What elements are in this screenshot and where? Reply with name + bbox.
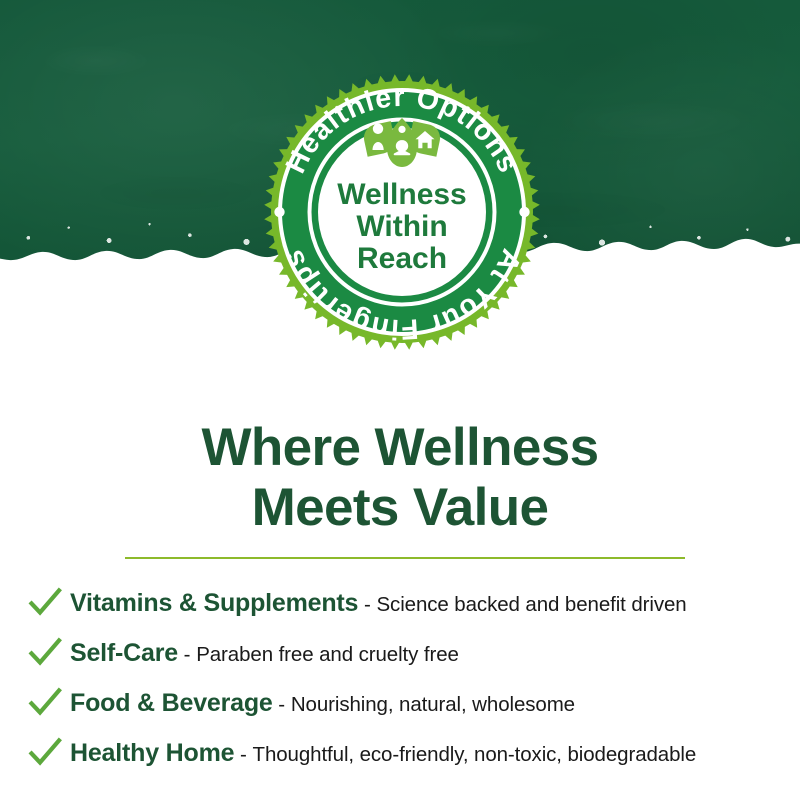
list-item: Vitamins & Supplements - Science backed …	[0, 578, 800, 628]
list-item-title: Self-Care	[70, 639, 178, 667]
list-item-dash: -	[358, 593, 376, 616]
wellness-badge-seal: Healthier Options At Your Fingertips	[264, 74, 540, 350]
list-item-description: Thoughtful, eco-friendly, non-toxic, bio…	[253, 743, 697, 766]
list-item-dash: -	[178, 643, 196, 666]
list-item-dash: -	[273, 693, 291, 716]
page-title-line-1: Where Wellness	[0, 418, 800, 478]
list-item-title: Healthy Home	[70, 739, 234, 767]
check-icon	[28, 736, 62, 770]
badge-center-line-2: Within	[356, 210, 447, 243]
list-item-dash: -	[234, 743, 252, 766]
list-item-text: Self-Care - Paraben free and cruelty fre…	[70, 639, 459, 668]
badge-center-line-1: Wellness	[337, 178, 467, 211]
list-item: Healthy Home - Thoughtful, eco-friendly,…	[0, 728, 800, 778]
badge-dot-left	[274, 207, 284, 217]
check-icon	[28, 586, 62, 620]
check-icon	[28, 686, 62, 720]
list-item-title: Vitamins & Supplements	[70, 589, 358, 617]
list-item-description: Paraben free and cruelty free	[196, 643, 459, 666]
title-divider-rule	[125, 557, 685, 559]
list-item-text: Food & Beverage - Nourishing, natural, w…	[70, 689, 575, 718]
list-item-text: Vitamins & Supplements - Science backed …	[70, 589, 687, 618]
list-item: Food & Beverage - Nourishing, natural, w…	[0, 678, 800, 728]
list-item-description: Science backed and benefit driven	[376, 593, 686, 616]
check-icon	[28, 636, 62, 670]
list-item-description: Nourishing, natural, wholesome	[291, 693, 575, 716]
promo-poster: Healthier Options At Your Fingertips	[0, 0, 800, 800]
list-item-text: Healthy Home - Thoughtful, eco-friendly,…	[70, 739, 696, 768]
badge-dot-right	[519, 207, 529, 217]
list-item-title: Food & Beverage	[70, 689, 273, 717]
page-title: Where Wellness Meets Value	[0, 418, 800, 538]
page-title-line-2: Meets Value	[0, 478, 800, 538]
badge-center-line-3: Reach	[357, 242, 447, 275]
list-item: Self-Care - Paraben free and cruelty fre…	[0, 628, 800, 678]
feature-list: Vitamins & Supplements - Science backed …	[0, 578, 800, 778]
